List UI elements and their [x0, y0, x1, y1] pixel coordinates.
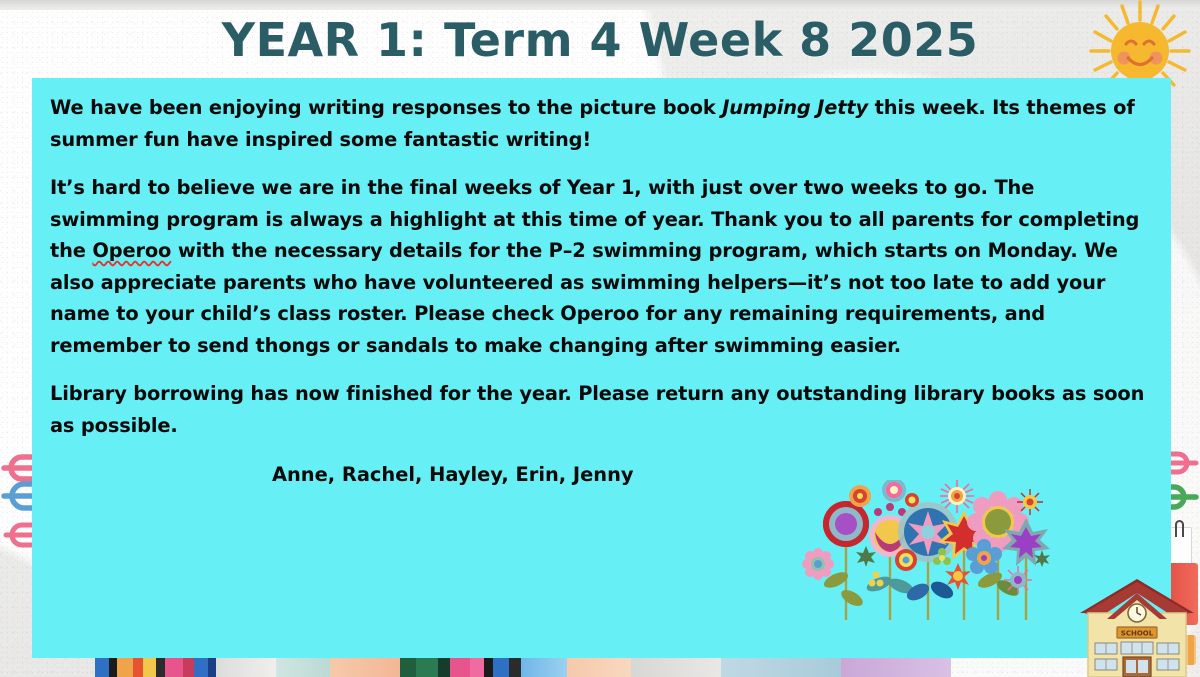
schoolhouse-icon: SCHOOL [1074, 573, 1200, 677]
book-title: Jumping Jetty [722, 96, 868, 119]
misspelled-word: Operoo [92, 239, 171, 262]
page-title: YEAR 1: Term 4 Week 8 2025 [0, 9, 1200, 71]
paragraph-1: We have been enjoying writing responses … [50, 92, 1149, 155]
flower-garden-icon [802, 480, 1052, 620]
paragraph-1-text-before: We have been enjoying writing responses … [50, 96, 722, 119]
paragraph-3: Library borrowing has now finished for t… [50, 378, 1149, 441]
newsletter-page: YEAR 1: Term 4 Week 8 2025 [0, 0, 1200, 677]
newsletter-content-panel: We have been enjoying writing responses … [32, 78, 1171, 658]
paragraph-2-text-part2: with the necessary details for the P–2 s… [50, 239, 1118, 357]
svg-text:SCHOOL: SCHOOL [1121, 630, 1154, 638]
paragraph-2: It’s hard to believe we are in the final… [50, 172, 1149, 361]
